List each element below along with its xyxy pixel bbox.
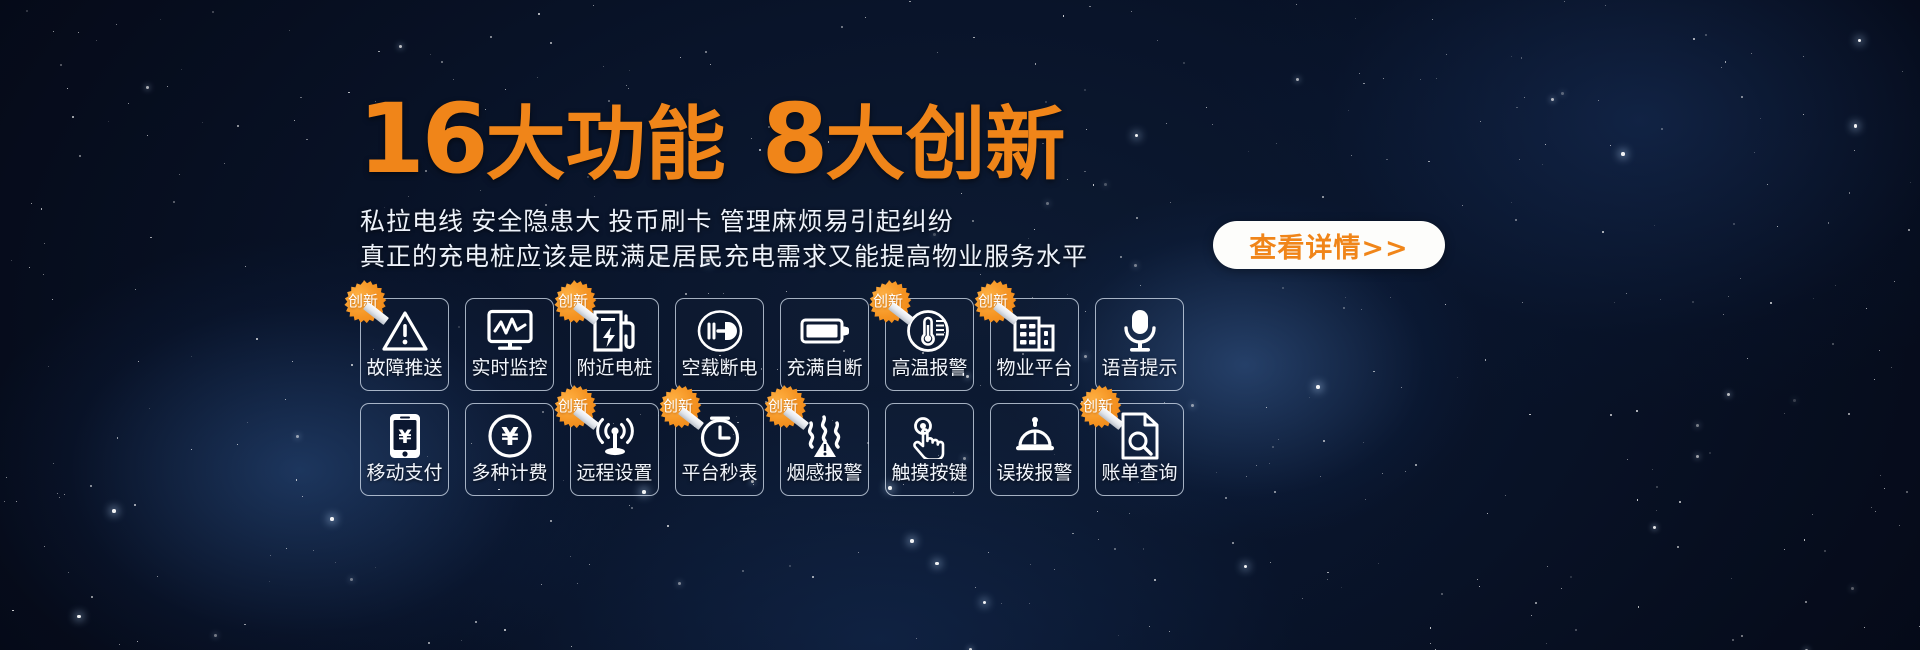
headline-text-innovations: 大创新 — [825, 98, 1065, 191]
feature-tile-label: 烟感报警 — [786, 464, 862, 484]
alarm-bell-icon — [991, 408, 1078, 464]
feature-tile[interactable]: 创新附近电桩 — [570, 298, 659, 391]
buildings-icon — [991, 303, 1078, 359]
charging-station-icon — [571, 303, 658, 359]
feature-tile-label: 远程设置 — [576, 464, 652, 484]
feature-tile[interactable]: 创新远程设置 — [570, 403, 659, 496]
feature-tile[interactable]: 创新账单查询 — [1095, 403, 1184, 496]
bill-search-icon — [1096, 408, 1183, 464]
feature-tile[interactable]: ¥移动支付 — [360, 403, 449, 496]
smoke-alarm-icon — [781, 408, 868, 464]
warning-triangle-icon — [361, 303, 448, 359]
yuan-circle-icon: ¥ — [466, 408, 553, 464]
microphone-icon — [1096, 303, 1183, 359]
feature-tile[interactable]: 创新烟感报警 — [780, 403, 869, 496]
feature-tile[interactable]: 触摸按键 — [885, 403, 974, 496]
feature-tile-label: 误拨报警 — [996, 464, 1072, 484]
feature-tile[interactable]: 创新故障推送 — [360, 298, 449, 391]
feature-tile-label: 平台秒表 — [681, 464, 757, 484]
antenna-signal-icon — [571, 408, 658, 464]
feature-tile[interactable]: 空载断电 — [675, 298, 764, 391]
feature-tile[interactable]: 语音提示 — [1095, 298, 1184, 391]
feature-grid: 创新故障推送实时监控创新附近电桩空载断电充满自断创新高温报警创新物业平台语音提示… — [360, 298, 1184, 496]
feature-tile[interactable]: 创新高温报警 — [885, 298, 974, 391]
subtitle-line-1: 私拉电线 安全隐患大 投币刷卡 管理麻烦易引起纠纷 — [360, 205, 1088, 240]
battery-full-icon — [781, 303, 868, 359]
feature-tile-label: 语音提示 — [1101, 359, 1177, 379]
feature-tile-label: 多种计费 — [471, 464, 547, 484]
clock-icon — [676, 408, 763, 464]
feature-tile-label: 高温报警 — [891, 359, 967, 379]
feature-tile[interactable]: 误拨报警 — [990, 403, 1079, 496]
feature-tile[interactable]: 创新平台秒表 — [675, 403, 764, 496]
feature-tile[interactable]: 实时监控 — [465, 298, 554, 391]
headline-number-innovations: 8 — [762, 83, 826, 195]
feature-tile-label: 实时监控 — [471, 359, 547, 379]
page-title: 16大功能8大创新 — [358, 96, 1065, 188]
view-details-button[interactable]: 查看详情>> — [1213, 221, 1445, 269]
monitor-waveform-icon — [466, 303, 553, 359]
feature-tile[interactable]: ¥多种计费 — [465, 403, 554, 496]
promo-banner: 16大功能8大创新 私拉电线 安全隐患大 投币刷卡 管理麻烦易引起纠纷 真正的充… — [0, 0, 1920, 650]
feature-tile-label: 物业平台 — [996, 359, 1072, 379]
feature-tile-label: 充满自断 — [786, 359, 862, 379]
feature-tile-label: 移动支付 — [366, 464, 442, 484]
headline-text-functions: 大功能 — [486, 98, 726, 191]
feature-tile[interactable]: 充满自断 — [780, 298, 869, 391]
feature-tile-label: 账单查询 — [1101, 464, 1177, 484]
feature-tile-label: 附近电桩 — [576, 359, 652, 379]
feature-tile-label: 触摸按键 — [891, 464, 967, 484]
thermometer-circle-icon — [886, 303, 973, 359]
headline-number-functions: 16 — [358, 83, 486, 195]
plug-circle-icon — [676, 303, 763, 359]
feature-tile[interactable]: 创新物业平台 — [990, 298, 1079, 391]
subtitle-line-2: 真正的充电桩应该是既满足居民充电需求又能提高物业服务水平 — [360, 240, 1088, 275]
phone-yuan-icon: ¥ — [361, 408, 448, 464]
subtitle-block: 私拉电线 安全隐患大 投币刷卡 管理麻烦易引起纠纷 真正的充电桩应该是既满足居民… — [360, 205, 1088, 275]
feature-tile-label: 空载断电 — [681, 359, 757, 379]
touch-hand-icon — [886, 408, 973, 464]
svg-text:¥: ¥ — [501, 422, 519, 451]
feature-tile-label: 故障推送 — [366, 359, 442, 379]
svg-text:¥: ¥ — [398, 426, 411, 448]
